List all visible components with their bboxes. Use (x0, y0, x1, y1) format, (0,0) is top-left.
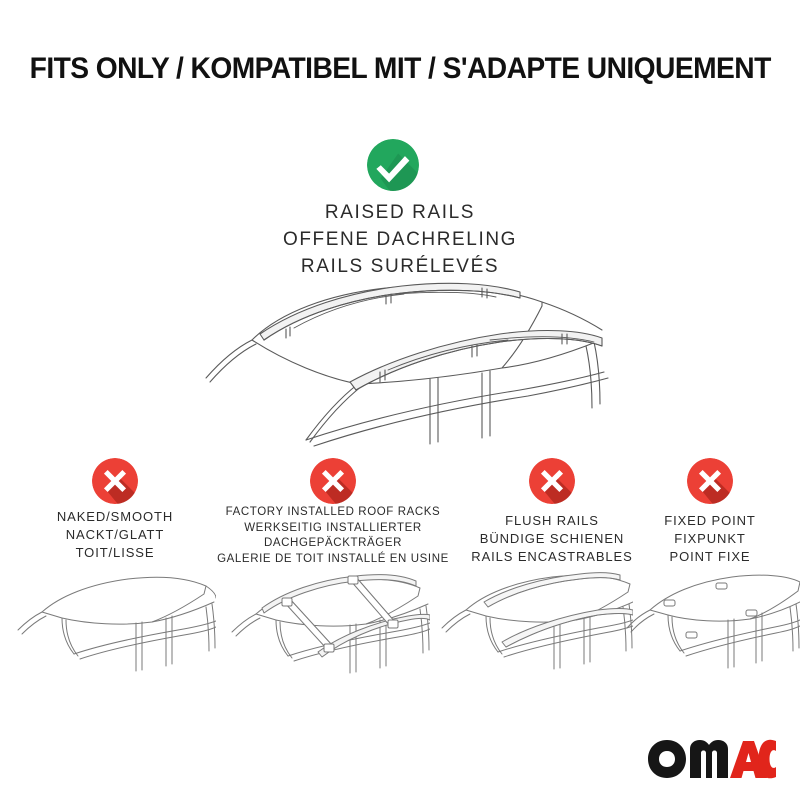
compatible-line-2: OFFENE DACHRELING (0, 227, 800, 254)
check-circle-icon (367, 139, 419, 191)
car-roof-with-raised-rails-illustration (190, 272, 610, 452)
car-roof-bare-illustration (8, 560, 216, 685)
car-roof-with-factory-crossbars-illustration (222, 556, 430, 686)
compatible-caption: RAISED RAILS OFFENE DACHRELING RAILS SUR… (0, 200, 800, 281)
fixed-point-line-1: FIXED POINT (620, 512, 800, 530)
cross-circle-icon (687, 458, 733, 504)
car-roof-with-fixed-points-illustration (624, 558, 800, 686)
cross-circle-icon (310, 458, 356, 504)
page-title: FITS ONLY / KOMPATIBEL MIT / S'ADAPTE UN… (0, 52, 800, 86)
omac-logo (646, 738, 778, 780)
factory-racks-line-1: FACTORY INSTALLED ROOF RACKS (183, 505, 483, 521)
cross-circle-icon (92, 458, 138, 504)
fixed-point-line-2: FIXPUNKT (620, 530, 800, 548)
compatible-line-1: RAISED RAILS (0, 200, 800, 227)
factory-racks-line-3: DACHGEPÄCKTRÄGER (183, 536, 483, 552)
compatibility-infographic: FITS ONLY / KOMPATIBEL MIT / S'ADAPTE UN… (0, 0, 800, 800)
factory-racks-line-2: WERKSEITIG INSTALLIERTER (183, 521, 483, 537)
car-roof-with-flush-rails-illustration (438, 558, 633, 686)
cross-circle-icon (529, 458, 575, 504)
page-title-text: FITS ONLY / KOMPATIBEL MIT / S'ADAPTE UN… (29, 52, 770, 86)
